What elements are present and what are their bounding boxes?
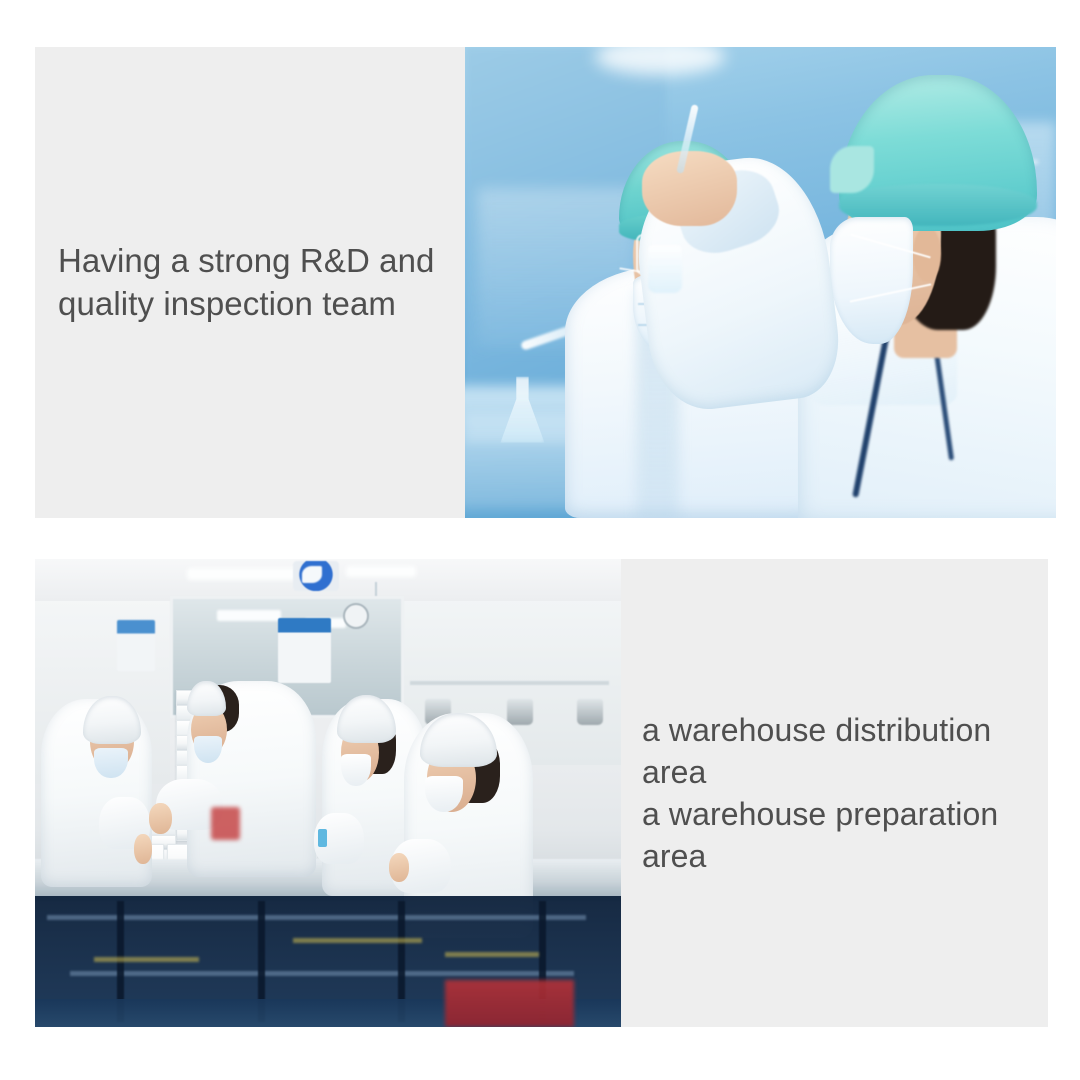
warehouse-worker (41, 699, 152, 886)
hand (149, 803, 172, 834)
table-beam (70, 971, 574, 976)
hand (134, 834, 152, 864)
caption-cell-warehouse: a warehouse distribution area a warehous… (621, 559, 1048, 1027)
wall-clock (343, 603, 369, 629)
table-beam (47, 915, 586, 920)
floor-marking (445, 952, 539, 957)
hand (389, 853, 410, 882)
lab-quality-inspection-photo (465, 47, 1056, 518)
sample-vial (648, 245, 682, 293)
floor-marking (94, 957, 199, 962)
ceiling-light (187, 568, 304, 579)
caption-cell-rnd: Having a strong R&D and quality inspecti… (35, 47, 465, 518)
image-cell-rnd (465, 47, 1056, 518)
window-light (217, 610, 281, 620)
panel-rnd-quality: Having a strong R&D and quality inspecti… (35, 47, 1056, 518)
floor-marking (293, 938, 422, 943)
ceiling-light (346, 566, 416, 577)
red-object (211, 807, 240, 840)
wall-notice-poster (278, 618, 331, 684)
gloved-hand (642, 151, 737, 226)
steel-container (577, 699, 603, 725)
wall-shelf (410, 681, 609, 685)
page-root: Having a strong R&D and quality inspecti… (0, 0, 1080, 1080)
warehouse-worker (187, 681, 316, 878)
red-floor-object (445, 980, 574, 1027)
blue-item (318, 829, 327, 847)
image-cell-warehouse (35, 559, 621, 1027)
panel-warehouse-areas: a warehouse distribution area a warehous… (35, 559, 1048, 1027)
caption-rnd-quality: Having a strong R&D and quality inspecti… (58, 240, 435, 324)
caption-warehouse-areas: a warehouse distribution area a warehous… (642, 709, 1042, 878)
warehouse-packing-photo (35, 559, 621, 1027)
wall-notice-poster (117, 620, 155, 671)
